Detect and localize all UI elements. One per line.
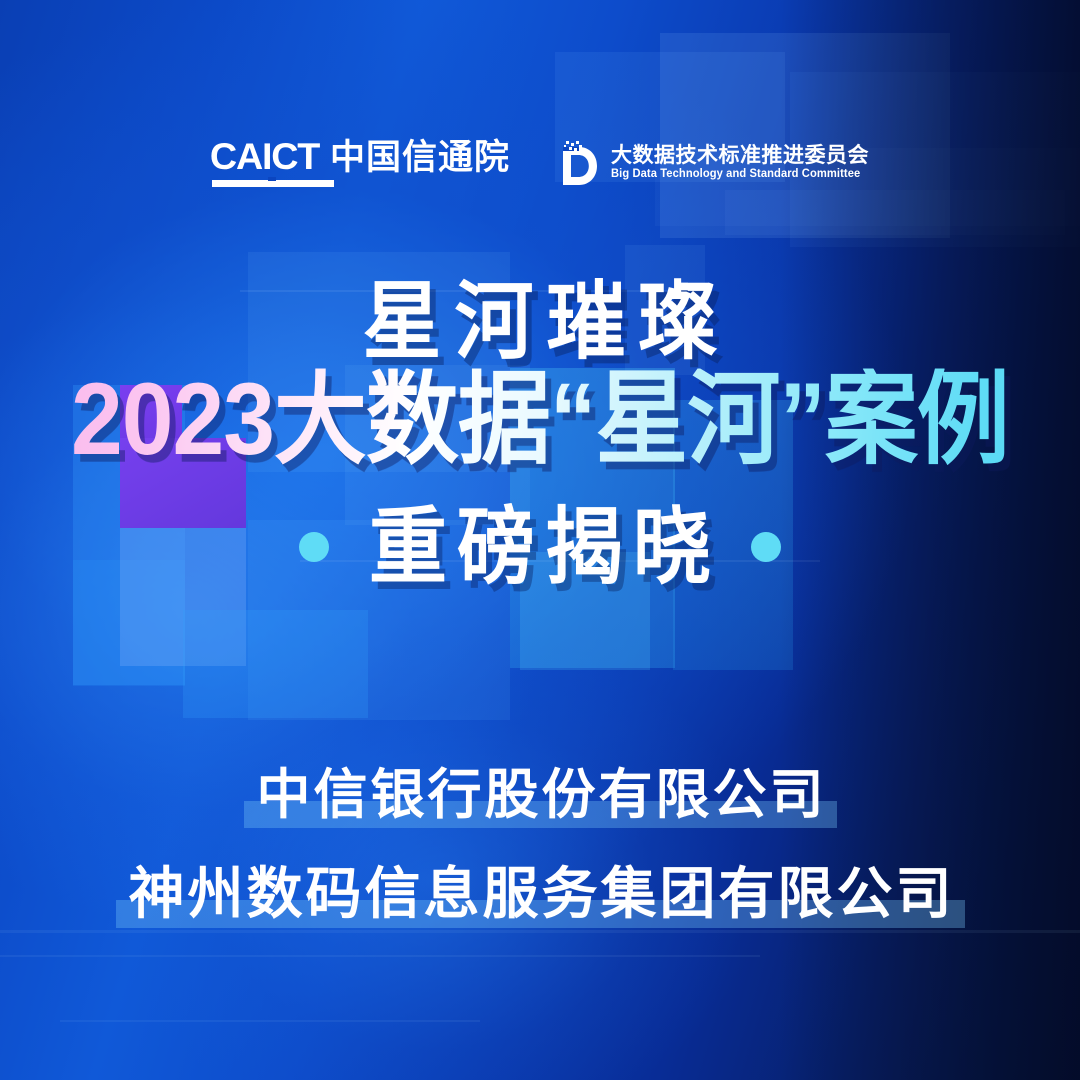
winner-name-1: 中信银行股份有限公司 [254,768,827,822]
big-data-committee-name-cn: 大数据技术标准推进委员会 [611,145,869,166]
winner-row-1: 中信银行股份有限公司 [0,768,1080,822]
poster-canvas: CAICT 中国信通院 [0,0,1080,1080]
big-data-committee-logo: 大数据技术标准推进委员会 Big Data Technology and Sta… [556,139,869,187]
winner-label-1: 中信银行股份有限公司 [257,765,827,825]
decorative-streak-1 [0,930,1080,933]
caict-underline-icon [212,180,334,187]
winner-label-2: 神州数码信息服务集团有限公司 [129,862,955,925]
cyan-dot-icon-left [299,532,329,562]
logo-row: CAICT 中国信通院 [0,138,1080,189]
caict-wordmark: CAICT [210,138,319,175]
decorative-block-left-3 [183,610,368,718]
winners-list: 中信银行股份有限公司 神州数码信息服务集团有限公司 [0,768,1080,922]
decorative-streak-2 [0,955,760,957]
big-data-committee-name-en: Big Data Technology and Standard Committ… [611,169,861,181]
cyan-dot-icon-right [751,532,781,562]
decorative-streak-5 [60,1020,480,1022]
title-line-1: 星河璀璨 [0,279,1080,364]
title-line-3: 重磅揭晓 [359,505,721,589]
caict-logo: CAICT 中国信通院 [211,138,510,189]
title-line-3-row: 重磅揭晓 [0,508,1080,586]
winner-row-2: 神州数码信息服务集团有限公司 [0,822,1080,922]
big-data-committee-text: 大数据技术标准推进委员会 Big Data Technology and Sta… [611,145,869,181]
winner-name-2: 神州数码信息服务集团有限公司 [126,866,955,922]
title-line-2: 2023大数据“星河”案例 [0,368,1080,470]
title-block: 星河璀璨 2023大数据“星河”案例 重磅揭晓 [0,282,1080,586]
d-monogram-icon [556,139,598,187]
caict-name-cn: 中国信通院 [330,140,510,175]
